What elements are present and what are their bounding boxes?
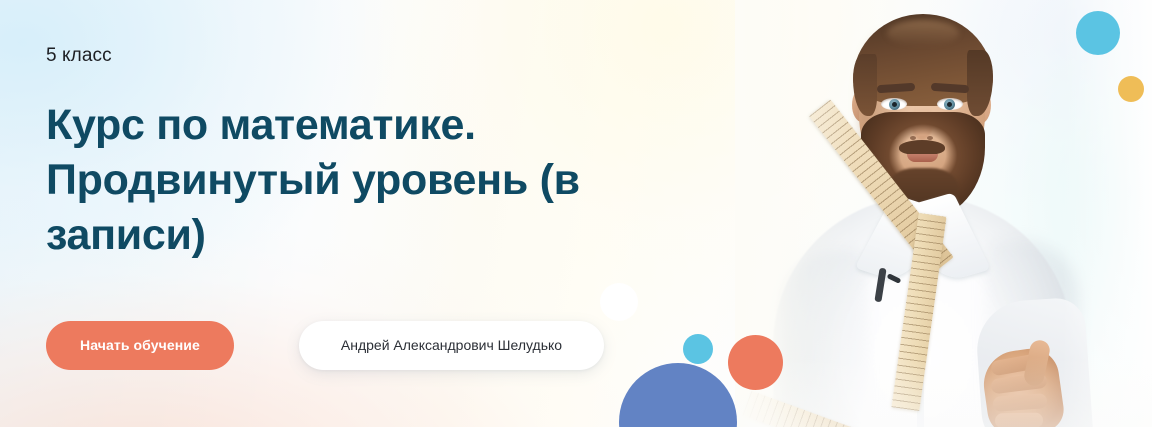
hair-highlight bbox=[887, 20, 959, 46]
orange-circle-decoration bbox=[728, 335, 783, 390]
course-hero-banner: 5 класс Курс по математике. Продвинутый … bbox=[0, 0, 1152, 427]
teacher-name-pill[interactable]: Андрей Александрович Шелудько bbox=[299, 321, 604, 370]
amber-circle-top-decoration bbox=[1118, 76, 1144, 102]
grade-label: 5 класс bbox=[46, 44, 112, 68]
banner-content: 5 класс Курс по математике. Продвинутый … bbox=[46, 0, 686, 427]
cyan-circle-top-decoration bbox=[1076, 11, 1120, 55]
teacher-photo bbox=[735, 0, 1152, 427]
start-learning-button[interactable]: Начать обучение bbox=[46, 321, 234, 370]
mustache bbox=[899, 140, 945, 155]
cta-row: Начать обучение Андрей Александрович Шел… bbox=[46, 321, 604, 370]
pupil-left bbox=[892, 102, 897, 107]
cyan-circle-small-decoration bbox=[683, 334, 713, 364]
photo-fade-bottom bbox=[735, 357, 1152, 427]
page-title: Курс по математике. Продвинутый уровень … bbox=[46, 98, 686, 263]
pupil-right bbox=[947, 102, 952, 107]
lips bbox=[907, 154, 938, 162]
